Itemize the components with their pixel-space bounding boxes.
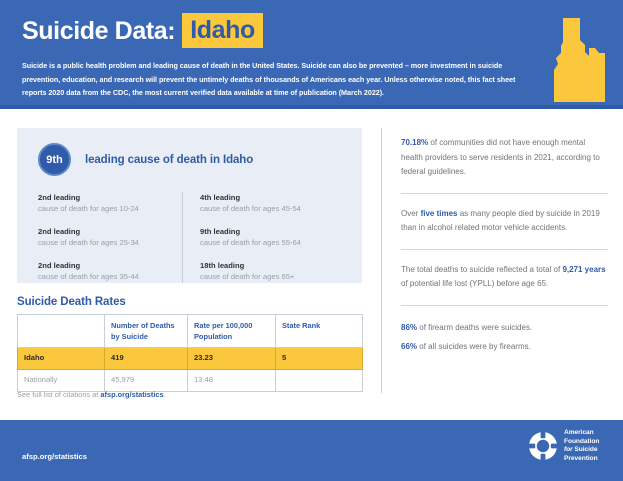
cause-rank: 2nd leading (38, 226, 182, 237)
afsp-logo-text: American Foundation for Suicide Preventi… (564, 429, 599, 463)
logo-line-4: Prevention (564, 455, 599, 464)
column-header-blank (18, 315, 105, 348)
suicide-death-rates-table: Number of Deaths by Suicide Rate per 100… (17, 314, 363, 392)
state-name-highlight: Idaho (182, 13, 263, 48)
row-label: Nationally (18, 370, 105, 392)
stat-text: of communities did not have enough menta… (401, 138, 600, 176)
stat-line: 86% of firearm deaths were suicides. (401, 319, 608, 339)
cause-column-right: 4th leading cause of death for ages 45-5… (182, 192, 343, 283)
title-row: Suicide Data: Idaho (22, 13, 263, 48)
stat-highlight: 70.18% (401, 138, 428, 147)
cause-item: 2nd leading cause of death for ages 10-2… (38, 192, 182, 215)
page-title: Suicide Data: (22, 17, 175, 45)
cause-grid: 2nd leading cause of death for ages 10-2… (38, 192, 343, 283)
rates-section-title: Suicide Death Rates (17, 296, 126, 308)
column-header-deaths: Number of Deaths by Suicide (105, 315, 188, 348)
stat-highlight: five times (421, 209, 458, 218)
cause-column-left: 2nd leading cause of death for ages 10-2… (38, 192, 182, 283)
stat-text: of potential life lost (YPLL) before age… (401, 279, 548, 288)
rank-badge: 9th (38, 143, 71, 176)
column-header-rate: Rate per 100,000 Population (188, 315, 276, 348)
leading-cause-panel: 9th leading cause of death in Idaho 2nd … (17, 128, 362, 283)
stat-text: Over (401, 209, 421, 218)
idaho-state-map-icon (549, 18, 605, 107)
cause-rank: 18th leading (200, 260, 343, 271)
cause-description: cause of death for ages 10-24 (38, 203, 182, 215)
table-row: Nationally 45,979 13.48 (18, 370, 363, 392)
table-row: Idaho 419 23.23 5 (18, 348, 363, 370)
cause-rank: 2nd leading (38, 260, 182, 271)
cause-rank: 2nd leading (38, 192, 182, 203)
right-column-stats: 70.18% of communities did not have enoug… (401, 136, 608, 358)
stat-block-firearms: 86% of firearm deaths were suicides. 66%… (401, 319, 608, 358)
rank-badge-row: 9th leading cause of death in Idaho (38, 143, 253, 176)
citation-prefix: See full list of citations at (17, 390, 100, 399)
cause-rank: 4th leading (200, 192, 343, 203)
rank-badge-label: leading cause of death in Idaho (85, 154, 253, 166)
stat-highlight: 66% (401, 342, 417, 351)
stat-text: The total deaths to suicide reflected a … (401, 265, 562, 274)
footer-url[interactable]: afsp.org/statistics (22, 452, 87, 461)
left-column: 9th leading cause of death in Idaho 2nd … (17, 128, 362, 283)
afsp-logo: American Foundation for Suicide Preventi… (528, 429, 599, 463)
cause-rank: 9th leading (200, 226, 343, 237)
stat-line: 66% of all suicides were by firearms. (401, 338, 608, 358)
stat-text: of firearm deaths were suicides. (417, 323, 532, 332)
table-header-row: Number of Deaths by Suicide Rate per 100… (18, 315, 363, 348)
life-preserver-icon (528, 431, 558, 461)
citation-suffix: . (164, 390, 166, 399)
page-header: Suicide Data: Idaho Suicide is a public … (0, 0, 623, 109)
cause-description: cause of death for ages 55-64 (200, 237, 343, 249)
stat-highlight: 9,271 years (562, 265, 605, 274)
row-deaths: 45,979 (105, 370, 188, 392)
stat-block: 70.18% of communities did not have enoug… (401, 136, 608, 194)
intro-paragraph: Suicide is a public health problem and l… (22, 59, 532, 100)
logo-line-3: for Suicide (564, 446, 599, 455)
cause-description: cause of death for ages 65+ (200, 271, 343, 283)
column-header-rank: State Rank (276, 315, 363, 348)
row-label: Idaho (18, 348, 105, 370)
logo-suicide: Suicide (573, 446, 598, 453)
row-rank (276, 370, 363, 392)
cause-description: cause of death for ages 35-44 (38, 271, 182, 283)
row-rank: 5 (276, 348, 363, 370)
citation-link[interactable]: afsp.org/statistics (100, 390, 163, 399)
row-rate: 13.48 (188, 370, 276, 392)
cause-item: 4th leading cause of death for ages 45-5… (200, 192, 343, 215)
citation-note: See full list of citations at afsp.org/s… (17, 390, 166, 399)
stat-highlight: 86% (401, 323, 417, 332)
header-bottom-rule (0, 105, 623, 109)
row-deaths: 419 (105, 348, 188, 370)
cause-item: 18th leading cause of death for ages 65+ (200, 260, 343, 283)
logo-line-2: Foundation (564, 438, 599, 447)
row-rate: 23.23 (188, 348, 276, 370)
cause-item: 9th leading cause of death for ages 55-6… (200, 226, 343, 249)
cause-item: 2nd leading cause of death for ages 25-3… (38, 226, 182, 249)
stat-block: The total deaths to suicide reflected a … (401, 263, 608, 306)
column-divider (381, 128, 382, 393)
cause-item: 2nd leading cause of death for ages 35-4… (38, 260, 182, 283)
logo-line-1: American (564, 429, 599, 438)
cause-description: cause of death for ages 45-54 (200, 203, 343, 215)
cause-description: cause of death for ages 25-34 (38, 237, 182, 249)
stat-text: of all suicides were by firearms. (417, 342, 531, 351)
logo-for: for (564, 446, 573, 453)
stat-block: Over five times as many people died by s… (401, 207, 608, 250)
infographic-page: Suicide Data: Idaho Suicide is a public … (0, 0, 623, 481)
